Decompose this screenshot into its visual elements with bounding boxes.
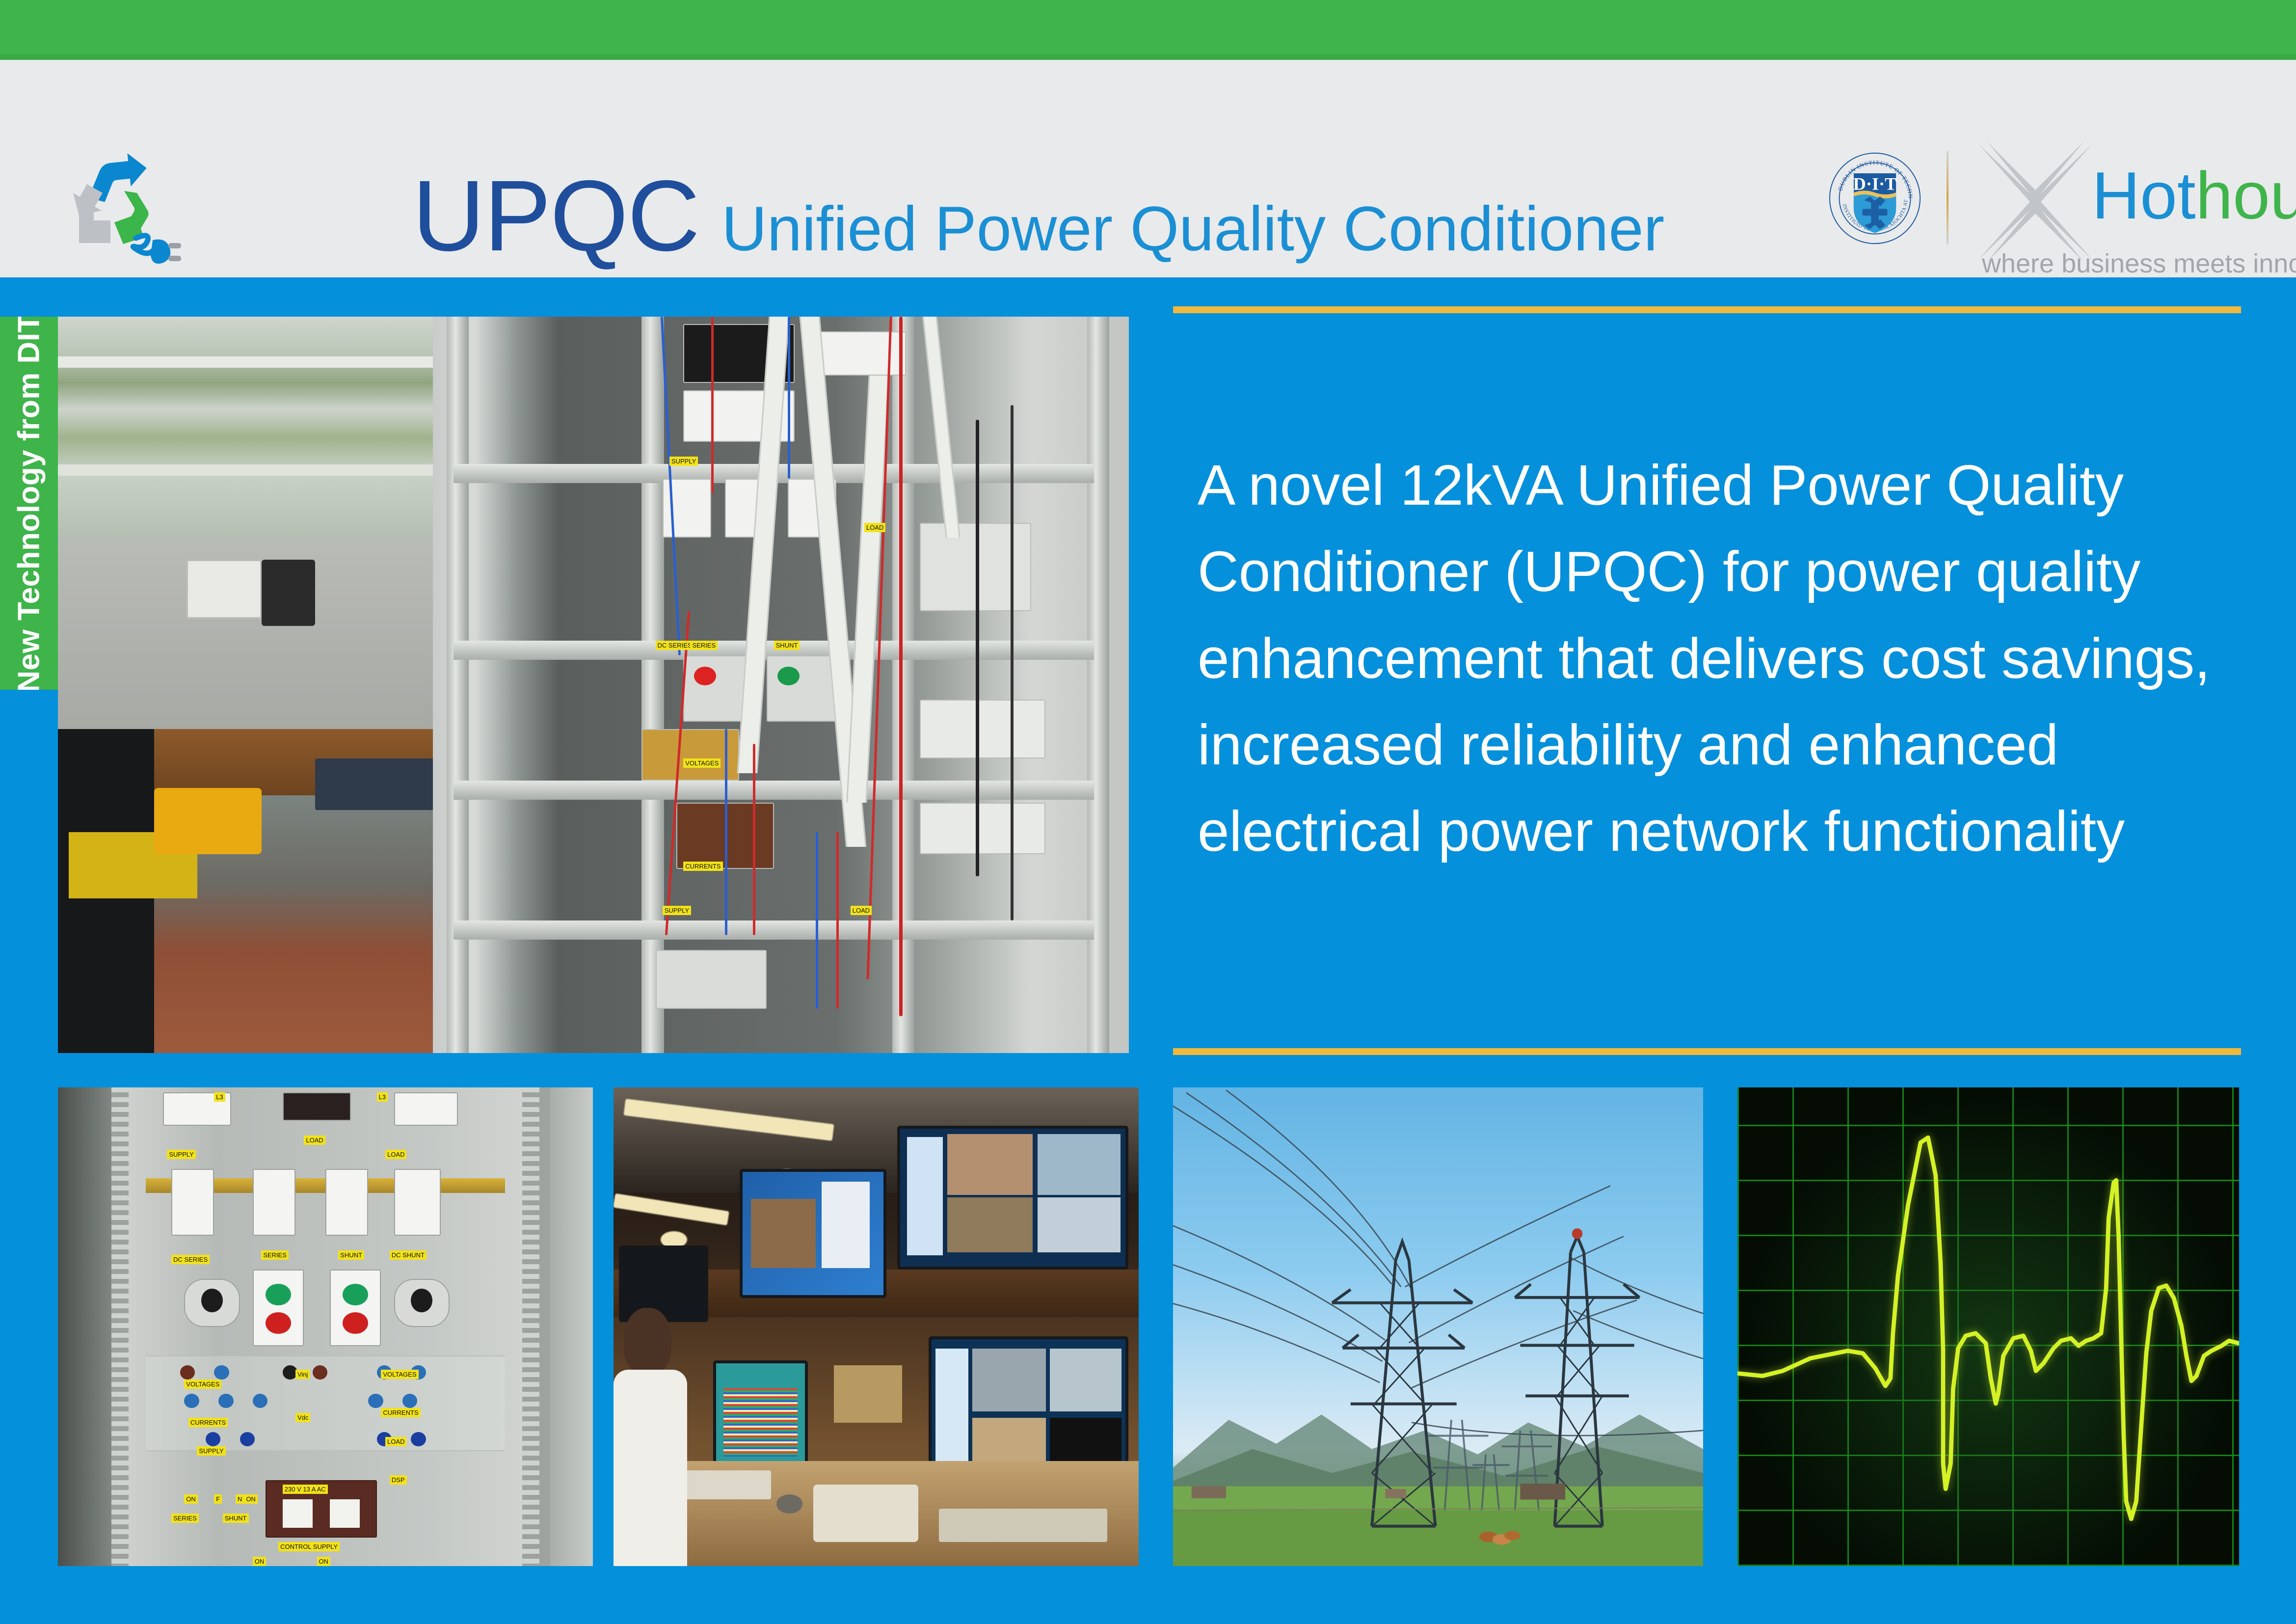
photo-transmission-towers xyxy=(1173,1087,1703,1566)
brand-logos: DUBLIN INSTITUTE OF TECHNOLOGY INSTITIUI… xyxy=(1827,146,2259,294)
panel-label: SERIES xyxy=(261,1250,289,1260)
page-title-block: UPQC Unified Power Quality Conditioner xyxy=(412,165,1664,266)
dit-crest-icon: DUBLIN INSTITUTE OF TECHNOLOGY INSTITIUI… xyxy=(1827,150,1923,246)
panel-label: SUPPLY xyxy=(197,1446,225,1456)
top-green-bar xyxy=(0,0,2296,60)
rack-label: LOAD xyxy=(851,906,872,915)
panel-label: CONTROL SUPPLY xyxy=(278,1542,340,1551)
brand-divider xyxy=(1947,151,1949,244)
rack-label: LOAD xyxy=(864,523,885,532)
rack-label: SHUNT xyxy=(774,641,800,650)
photo-control-panel: SUPPLY LOAD LOAD L3 L3 DC SERIES SERIES … xyxy=(58,1087,593,1566)
side-tab-new-technology: New Technology from DIT xyxy=(0,317,58,690)
poster-root: UPQC Unified Power Quality Conditioner D… xyxy=(0,0,2296,1624)
panel-label: L3 xyxy=(377,1092,388,1102)
hothouse-x-icon xyxy=(1974,140,2097,263)
hothouse-house: house xyxy=(2196,158,2296,233)
panel-label: LOAD xyxy=(385,1150,406,1159)
rack-label: SUPPLY xyxy=(663,906,691,915)
panel-label: ON xyxy=(244,1494,258,1504)
panel-label: SHUNT xyxy=(223,1514,249,1523)
divider-top xyxy=(1173,306,2241,313)
photo-oscilloscope-waveform xyxy=(1737,1087,2239,1566)
panel-label: LOAD xyxy=(385,1437,406,1446)
panel-label: SUPPLY xyxy=(167,1150,195,1159)
side-tab-label: New Technology from DIT xyxy=(12,317,47,690)
panel-label: 230 V 13 A AC xyxy=(283,1485,328,1494)
photo-control-room xyxy=(614,1087,1139,1566)
panel-label: ON xyxy=(184,1494,198,1504)
page-subtitle: Unified Power Quality Conditioner xyxy=(721,198,1664,261)
panel-label: DSP xyxy=(390,1475,407,1485)
panel-label: CURRENTS xyxy=(188,1418,228,1427)
panel-label: ON xyxy=(317,1557,331,1566)
panel-label: DC SHUNT xyxy=(390,1250,427,1260)
panel-label: Vinj xyxy=(295,1370,310,1379)
hothouse-wordmark: Hothouse xyxy=(2092,162,2296,229)
hothouse-hot: Hot xyxy=(2092,158,2196,233)
top-bar-shadow xyxy=(0,54,2296,60)
panel-label: N xyxy=(236,1494,244,1504)
photo-equipment-rack-main: SUPPLY DC SERIES SERIES SHUNT LOAD VOLTA… xyxy=(58,317,1129,1053)
panel-label: CURRENTS xyxy=(381,1408,420,1417)
panel-label: DC SERIES xyxy=(171,1255,210,1264)
panel-label: LOAD xyxy=(304,1136,325,1145)
panel-label: F xyxy=(214,1494,222,1504)
panel-label: VOLTAGES xyxy=(381,1370,418,1379)
recycle-plug-icon xyxy=(52,146,233,293)
hothouse-tagline: where business meets innovation xyxy=(1982,248,2296,279)
panel-label: SHUNT xyxy=(338,1250,364,1260)
rack-label: CURRENTS xyxy=(683,862,722,871)
panel-label: VOLTAGES xyxy=(184,1380,221,1389)
rack-label: SUPPLY xyxy=(669,457,698,466)
svg-text:D·I·T: D·I·T xyxy=(1853,174,1897,193)
panel-label: SERIES xyxy=(171,1514,199,1523)
rack-label: SERIES xyxy=(690,641,718,650)
body-description: A novel 12kVA Unified Power Quality Cond… xyxy=(1198,442,2248,875)
panel-label: L3 xyxy=(214,1092,225,1102)
rack-label: VOLTAGES xyxy=(683,758,721,768)
page-title: UPQC xyxy=(412,165,699,266)
panel-label: ON xyxy=(253,1557,267,1566)
page-header: UPQC Unified Power Quality Conditioner D… xyxy=(0,60,2296,277)
rack-label: DC SERIES xyxy=(656,641,694,650)
panel-label: Vdc xyxy=(295,1413,310,1422)
divider-bottom xyxy=(1173,1048,2241,1055)
